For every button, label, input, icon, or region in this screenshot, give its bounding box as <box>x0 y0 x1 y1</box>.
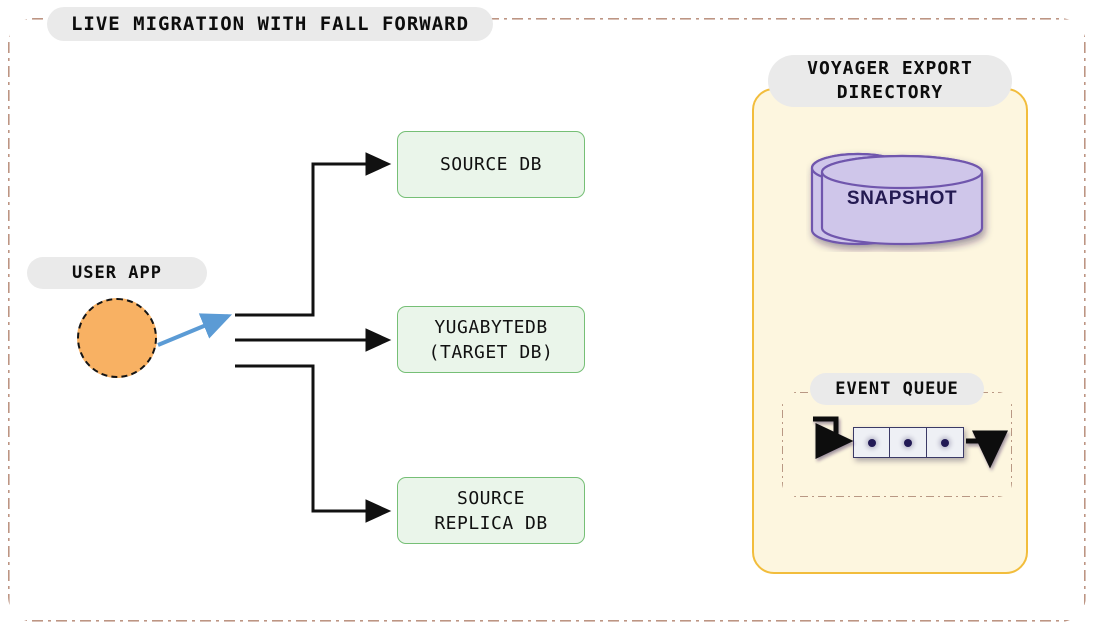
event-dot-icon <box>941 439 949 447</box>
event-queue-cells <box>853 427 964 458</box>
database-cylinder-icon <box>806 146 998 252</box>
event-queue-cell <box>853 427 890 458</box>
voyager-export-directory-label: VOYAGER EXPORT DIRECTORY <box>768 55 1012 107</box>
page-title: LIVE MIGRATION WITH FALL FORWARD <box>47 7 493 41</box>
app-circle-icon <box>77 298 157 378</box>
event-queue-cell <box>890 427 927 458</box>
event-dot-icon <box>904 439 912 447</box>
event-queue-label: EVENT QUEUE <box>810 373 984 405</box>
db-box-source-db: SOURCE DB <box>397 131 585 198</box>
db-box-source-replica: SOURCE REPLICA DB <box>397 477 585 544</box>
user-app-label: USER APP <box>27 257 207 289</box>
db-box-target-db: YUGABYTEDB (TARGET DB) <box>397 306 585 373</box>
event-dot-icon <box>868 439 876 447</box>
event-queue-cell <box>927 427 964 458</box>
diagram-canvas: LIVE MIGRATION WITH FALL FORWARD VOYAGER… <box>0 0 1102 642</box>
